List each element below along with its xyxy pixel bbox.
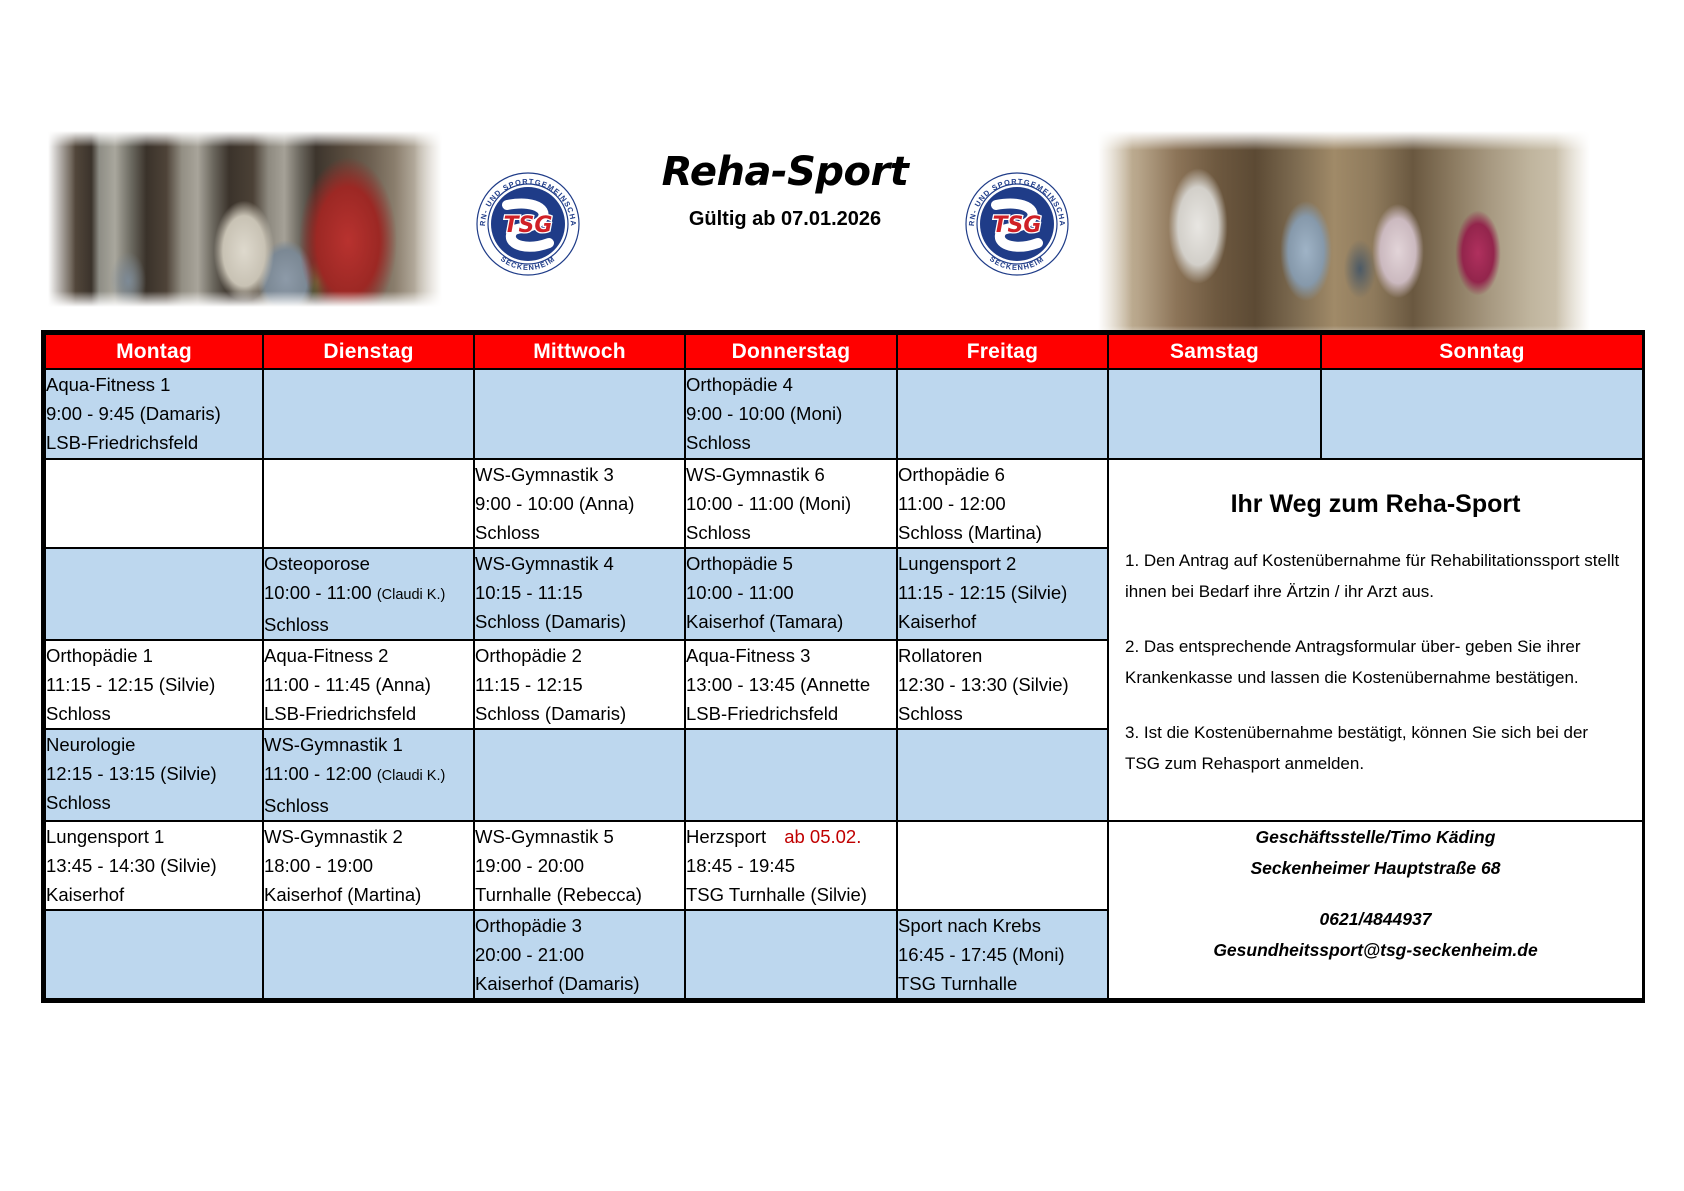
- cell-line: Turnhalle (Rebecca): [475, 880, 684, 909]
- schedule-row: Aqua-Fitness 19:00 - 9:45 (Damaris)LSB-F…: [45, 369, 1643, 459]
- day-header-donnerstag: Donnerstag: [685, 334, 897, 369]
- cell-line: Sport nach Krebs: [898, 911, 1107, 940]
- schedule-cell[interactable]: Orthopädie 49:00 - 10:00 (Moni)Schloss: [685, 369, 897, 459]
- contact-address: Seckenheimer Hauptstraße 68: [1109, 853, 1642, 884]
- title-block: Reha-Sport Gültig ab 07.01.2026: [600, 150, 970, 231]
- cell-line: Aqua-Fitness 2: [264, 641, 473, 670]
- page-title: Reha-Sport: [600, 150, 970, 194]
- cell-line: 20:00 - 21:00: [475, 940, 684, 969]
- info-panel: Ihr Weg zum Reha-Sport1. Den Antrag auf …: [1108, 459, 1643, 821]
- schedule-cell[interactable]: WS-Gymnastik 610:00 - 11:00 (Moni)Schlos…: [685, 459, 897, 548]
- contact-phone[interactable]: 0621/4844937: [1109, 904, 1642, 935]
- info-step: 1. Den Antrag auf Kostenübernahme für Re…: [1125, 545, 1626, 607]
- cell-line: 12:15 - 13:15 (Silvie): [46, 759, 262, 788]
- schedule-cell[interactable]: Neurologie12:15 - 13:15 (Silvie)Schloss: [45, 729, 263, 821]
- page-header: TSG TURN- UND SPORTGEMEINSCHAFT SECKENHE…: [0, 0, 1684, 325]
- tsg-logo-left: TSG TURN- UND SPORTGEMEINSCHAFT SECKENHE…: [469, 165, 587, 283]
- cell-line: LSB-Friedrichsfeld: [46, 428, 262, 457]
- schedule-cell[interactable]: Orthopädie 211:15 - 12:15Schloss (Damari…: [474, 640, 685, 729]
- day-header-sonntag: Sonntag: [1321, 334, 1643, 369]
- info-step: 3. Ist die Kostenübernahme bestätigt, kö…: [1125, 717, 1626, 779]
- photo-right: [1098, 131, 1590, 345]
- cell-line: Osteoporose: [264, 549, 473, 578]
- schedule-cell[interactable]: Orthopädie 111:15 - 12:15 (Silvie)Schlos…: [45, 640, 263, 729]
- schedule-cell[interactable]: Sport nach Krebs16:45 - 17:45 (Moni)TSG …: [897, 910, 1108, 999]
- cell-line: Schloss: [686, 428, 896, 457]
- cell-line: Schloss: [686, 518, 896, 547]
- schedule-cell[interactable]: Orthopädie 611:00 - 12:00Schloss (Martin…: [897, 459, 1108, 548]
- cell-line: Orthopädie 4: [686, 370, 896, 399]
- cell-line: Schloss (Damaris): [475, 699, 684, 728]
- cell-line: 13:00 - 13:45 (Annette: [686, 670, 896, 699]
- cell-line: WS-Gymnastik 3: [475, 460, 684, 489]
- cell-line: 18:00 - 19:00: [264, 851, 473, 880]
- cell-line: WS-Gymnastik 2: [264, 822, 473, 851]
- cell-line: 9:00 - 10:00 (Moni): [686, 399, 896, 428]
- schedule-cell[interactable]: [897, 821, 1108, 910]
- schedule-cell[interactable]: [263, 459, 474, 548]
- cell-line: Orthopädie 6: [898, 460, 1107, 489]
- schedule-cell[interactable]: [45, 910, 263, 999]
- schedule-cell[interactable]: [474, 369, 685, 459]
- cell-line: 10:15 - 11:15: [475, 578, 684, 607]
- cell-line: WS-Gymnastik 4: [475, 549, 684, 578]
- schedule-cell[interactable]: WS-Gymnastik 111:00 - 12:00 (Claudi K.)S…: [263, 729, 474, 821]
- schedule-cell[interactable]: [1321, 369, 1643, 459]
- cell-line: Rollatoren: [898, 641, 1107, 670]
- schedule-table: Montag Dienstag Mittwoch Donnerstag Frei…: [44, 333, 1644, 1000]
- info-step: 2. Das entsprechende Antragsformular übe…: [1125, 631, 1626, 693]
- schedule-cell[interactable]: [685, 729, 897, 821]
- cell-line: TSG Turnhalle (Silvie): [686, 880, 896, 909]
- schedule-cell[interactable]: WS-Gymnastik 218:00 - 19:00Kaiserhof (Ma…: [263, 821, 474, 910]
- cell-line: Kaiserhof (Martina): [264, 880, 473, 909]
- cell-line: Schloss: [898, 699, 1107, 728]
- cell-line: Lungensport 1: [46, 822, 262, 851]
- schedule-cell[interactable]: Orthopädie 510:00 - 11:00Kaiserhof (Tama…: [685, 548, 897, 640]
- cell-line: Orthopädie 3: [475, 911, 684, 940]
- cell-line: Orthopädie 2: [475, 641, 684, 670]
- day-header-montag: Montag: [45, 334, 263, 369]
- contact-office: Geschäftsstelle/Timo Käding: [1109, 822, 1642, 853]
- schedule-cell[interactable]: Orthopädie 320:00 - 21:00Kaiserhof (Dama…: [474, 910, 685, 999]
- cell-line: TSG Turnhalle: [898, 969, 1107, 998]
- cell-line: Schloss: [264, 610, 473, 639]
- cell-line: 10:00 - 11:00 (Claudi K.): [264, 578, 473, 610]
- schedule-cell[interactable]: Rollatoren12:30 - 13:30 (Silvie)Schloss: [897, 640, 1108, 729]
- schedule-cell[interactable]: [1108, 369, 1321, 459]
- cell-line: 19:00 - 20:00: [475, 851, 684, 880]
- schedule-cell[interactable]: [45, 548, 263, 640]
- schedule-row: WS-Gymnastik 39:00 - 10:00 (Anna)Schloss…: [45, 459, 1643, 548]
- tsg-logo-right: TSG TURN- UND SPORTGEMEINSCHAFT SECKENHE…: [958, 165, 1076, 283]
- cell-line: Lungensport 2: [898, 549, 1107, 578]
- cell-line: Schloss: [475, 518, 684, 547]
- cell-line: LSB-Friedrichsfeld: [264, 699, 473, 728]
- cell-line: Kaiserhof: [46, 880, 262, 909]
- cell-line: 13:45 - 14:30 (Silvie): [46, 851, 262, 880]
- photo-left: [48, 131, 442, 307]
- cell-line: Schloss: [46, 699, 262, 728]
- cell-line: WS-Gymnastik 6: [686, 460, 896, 489]
- day-header-dienstag: Dienstag: [263, 334, 474, 369]
- cell-line: 10:00 - 11:00: [686, 578, 896, 607]
- contact-email[interactable]: Gesundheitssport@tsg-seckenheim.de: [1109, 935, 1642, 966]
- cell-line: 11:00 - 12:00: [898, 489, 1107, 518]
- schedule-cell[interactable]: Herzsportab 05.02.18:45 - 19:45TSG Turnh…: [685, 821, 897, 910]
- cell-line: Schloss: [264, 791, 473, 820]
- cell-line: 10:00 - 11:00 (Moni): [686, 489, 896, 518]
- cell-line: LSB-Friedrichsfeld: [686, 699, 896, 728]
- cell-line: 11:15 - 12:15: [475, 670, 684, 699]
- svg-text:TSG: TSG: [504, 213, 553, 238]
- cell-line: Schloss: [46, 788, 262, 817]
- cell-line: 11:00 - 12:00 (Claudi K.): [264, 759, 473, 791]
- schedule-cell[interactable]: WS-Gymnastik 519:00 - 20:00Turnhalle (Re…: [474, 821, 685, 910]
- cell-line: Schloss (Martina): [898, 518, 1107, 547]
- cell-line: 9:00 - 10:00 (Anna): [475, 489, 684, 518]
- cell-line: 11:15 - 12:15 (Silvie): [46, 670, 262, 699]
- cell-line: Neurologie: [46, 730, 262, 759]
- schedule-cell[interactable]: Aqua-Fitness 211:00 - 11:45 (Anna)LSB-Fr…: [263, 640, 474, 729]
- schedule-cell[interactable]: WS-Gymnastik 39:00 - 10:00 (Anna)Schloss: [474, 459, 685, 548]
- schedule-cell[interactable]: [263, 369, 474, 459]
- cell-line: 18:45 - 19:45: [686, 851, 896, 880]
- schedule-cell[interactable]: [897, 369, 1108, 459]
- cell-line: 11:00 - 11:45 (Anna): [264, 670, 473, 699]
- schedule-cell[interactable]: Aqua-Fitness 313:00 - 13:45 (AnnetteLSB-…: [685, 640, 897, 729]
- day-header-mittwoch: Mittwoch: [474, 334, 685, 369]
- schedule-grid: Montag Dienstag Mittwoch Donnerstag Frei…: [41, 330, 1645, 1003]
- schedule-cell[interactable]: Lungensport 211:15 - 12:15 (Silvie)Kaise…: [897, 548, 1108, 640]
- schedule-cell[interactable]: [474, 729, 685, 821]
- day-header-samstag: Samstag: [1108, 334, 1321, 369]
- cell-line: WS-Gymnastik 5: [475, 822, 684, 851]
- cell-line: 11:15 - 12:15 (Silvie): [898, 578, 1107, 607]
- info-panel-steps: 1. Den Antrag auf Kostenübernahme für Re…: [1125, 545, 1626, 779]
- table-header-row: Montag Dienstag Mittwoch Donnerstag Frei…: [45, 334, 1643, 369]
- cell-line: Aqua-Fitness 1: [46, 370, 262, 399]
- cell-line: Schloss (Damaris): [475, 607, 684, 636]
- schedule-row: Lungensport 113:45 - 14:30 (Silvie)Kaise…: [45, 821, 1643, 910]
- contact-panel: Geschäftsstelle/Timo KädingSeckenheimer …: [1108, 821, 1643, 999]
- svg-text:TSG: TSG: [993, 213, 1042, 238]
- cell-line: Orthopädie 5: [686, 549, 896, 578]
- cell-line: Kaiserhof: [898, 607, 1107, 636]
- schedule-cell[interactable]: Osteoporose10:00 - 11:00 (Claudi K.)Schl…: [263, 548, 474, 640]
- cell-line: Herzsportab 05.02.: [686, 822, 896, 851]
- schedule-cell[interactable]: [685, 910, 897, 999]
- cell-line: 16:45 - 17:45 (Moni): [898, 940, 1107, 969]
- cell-line: 9:00 - 9:45 (Damaris): [46, 399, 262, 428]
- schedule-cell[interactable]: [263, 910, 474, 999]
- schedule-cell[interactable]: Lungensport 113:45 - 14:30 (Silvie)Kaise…: [45, 821, 263, 910]
- validity-subtitle: Gültig ab 07.01.2026: [600, 208, 970, 231]
- cell-line: Kaiserhof (Tamara): [686, 607, 896, 636]
- schedule-cell[interactable]: WS-Gymnastik 410:15 - 11:15Schloss (Dama…: [474, 548, 685, 640]
- schedule-cell[interactable]: [45, 459, 263, 548]
- cell-line: 12:30 - 13:30 (Silvie): [898, 670, 1107, 699]
- schedule-cell[interactable]: [897, 729, 1108, 821]
- info-panel-title: Ihr Weg zum Reha-Sport: [1125, 490, 1626, 519]
- schedule-cell[interactable]: Aqua-Fitness 19:00 - 9:45 (Damaris)LSB-F…: [45, 369, 263, 459]
- cell-line: WS-Gymnastik 1: [264, 730, 473, 759]
- cell-line: Orthopädie 1: [46, 641, 262, 670]
- cell-line: Aqua-Fitness 3: [686, 641, 896, 670]
- cell-line: Kaiserhof (Damaris): [475, 969, 684, 998]
- day-header-freitag: Freitag: [897, 334, 1108, 369]
- schedule-body: Aqua-Fitness 19:00 - 9:45 (Damaris)LSB-F…: [45, 369, 1643, 999]
